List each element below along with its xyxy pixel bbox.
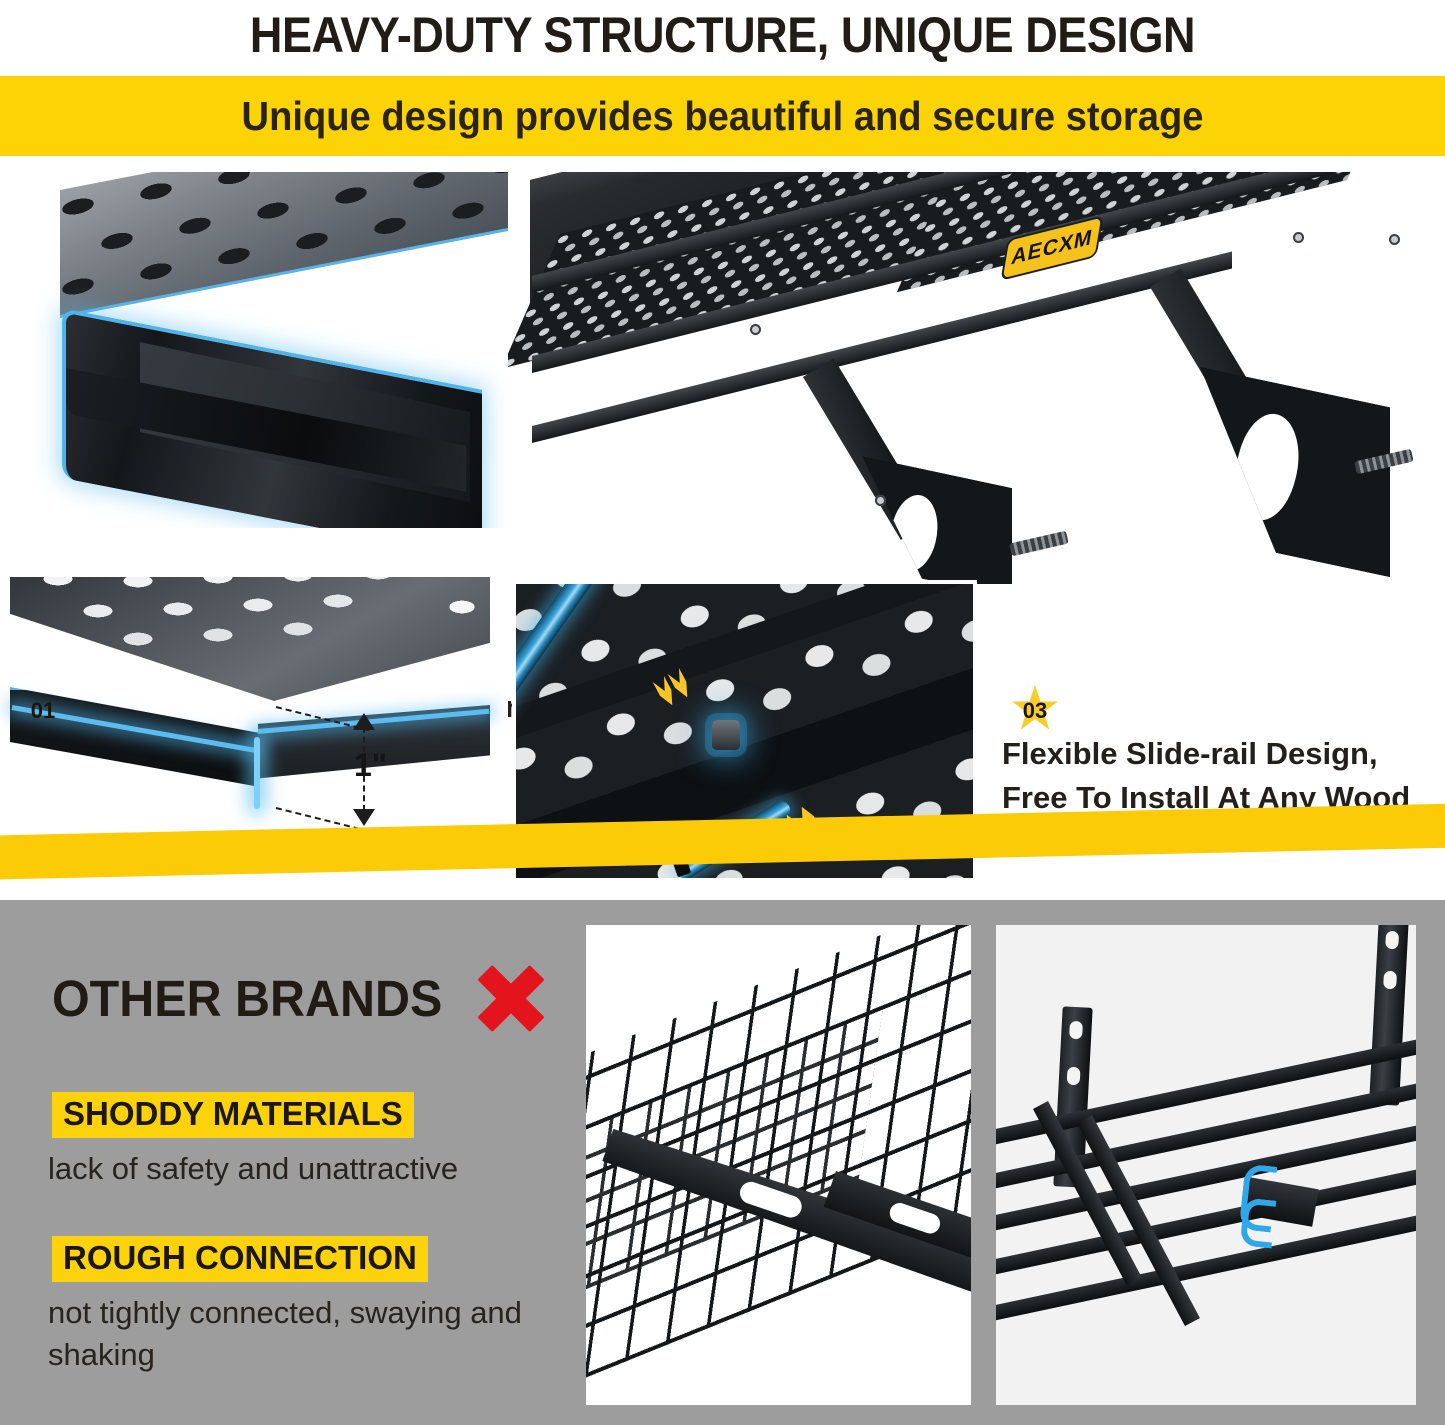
mounting-post-right (1369, 925, 1409, 1106)
drawback-description-1: lack of safety and unattractive (48, 1148, 458, 1190)
post-hole (1069, 1021, 1083, 1040)
arrow-down-icon (353, 809, 375, 826)
gusset-plate-left (862, 456, 1012, 584)
mounting-hole (875, 495, 886, 506)
drawback-label-2: ROUGH CONNECTION (52, 1236, 428, 1282)
cross-mark-icon (475, 962, 547, 1034)
perforation-pattern (10, 577, 490, 701)
post-hole (1383, 971, 1397, 990)
feature-image-thick-frame: 1" (0, 577, 508, 852)
lag-screw-left (1009, 531, 1068, 557)
frame-slat (996, 1216, 1416, 1322)
dimension-value: 1" (354, 747, 387, 784)
blue-corner-glow (254, 737, 260, 809)
page-title: HEAVY-DUTY STRUCTURE, UNIQUE DESIGN (72, 4, 1373, 70)
feature-image-one-piece-folding (0, 172, 508, 528)
feature-number: 01 (31, 698, 55, 724)
perforation-pattern (60, 172, 508, 318)
competitor-wire-mesh-image (586, 925, 971, 1405)
mounting-hole (1389, 234, 1400, 245)
highlight-hook-icon (1240, 1197, 1277, 1248)
drawback-label-1: SHODDY MATERIALS (52, 1092, 414, 1138)
feature-star-badge-03: 03 (1012, 685, 1058, 731)
frame-top-face (10, 577, 490, 701)
mounting-hole (750, 324, 761, 335)
channel-top-surface (60, 172, 508, 318)
subtitle-band: Unique design provides beautiful and sec… (0, 76, 1445, 156)
mounting-bolt (712, 720, 740, 750)
feature-number: 03 (1023, 698, 1047, 724)
post-hole (1067, 1067, 1081, 1086)
mounting-hole (1293, 232, 1304, 243)
comparison-heading: OTHER BRANDS (52, 962, 547, 1034)
comparison-section: OTHER BRANDS SHODDY MATERIALS lack of sa… (0, 900, 1445, 1425)
post-hole (1385, 931, 1399, 950)
subtitle-text: Unique design provides beautiful and sec… (51, 76, 1395, 156)
header: HEAVY-DUTY STRUCTURE, UNIQUE DESIGN Uniq… (0, 0, 1445, 172)
features-section: AECXM 01 One-piece Folding And Forming (0, 172, 1445, 912)
comparison-heading-text: OTHER BRANDS (52, 969, 442, 1028)
thickness-dimension-marker: 1" (270, 689, 450, 849)
competitor-bar-frame-image (996, 925, 1416, 1405)
arrow-up-icon (353, 713, 375, 730)
hero-product-image: AECXM (500, 172, 1445, 584)
drawback-description-2: not tightly connected, swaying and shaki… (48, 1292, 588, 1376)
